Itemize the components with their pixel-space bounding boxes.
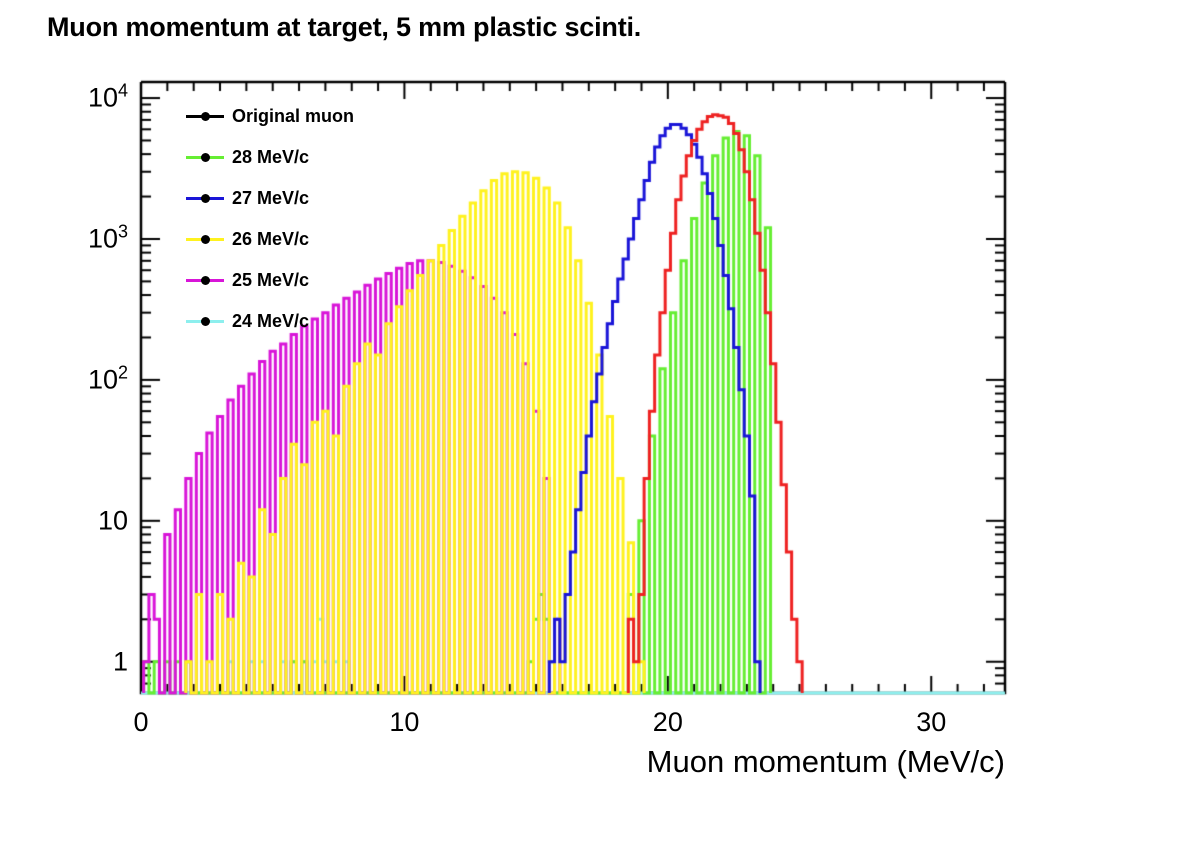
- x-axis-title: Muon momentum (MeV/c): [0, 744, 1005, 780]
- legend-item-label: 28 MeV/c: [232, 147, 309, 168]
- legend-dot-icon: [201, 112, 210, 121]
- legend-item: 27 MeV/c: [186, 178, 366, 219]
- y-axis-tick-label: 1: [113, 646, 128, 677]
- legend-item: 25 MeV/c: [186, 260, 366, 301]
- x-axis-tick-label: 20: [653, 707, 683, 738]
- legend-marker-icon: [186, 274, 224, 288]
- y-axis-tick-label: 104: [88, 83, 128, 114]
- legend-item-label: 26 MeV/c: [232, 229, 309, 250]
- y-axis-tick-label: 103: [88, 223, 128, 254]
- legend-item-label: Original muon: [232, 106, 354, 127]
- x-axis-tick-label: 0: [133, 707, 148, 738]
- legend-dot-icon: [201, 235, 210, 244]
- x-axis-tick-label: 10: [389, 707, 419, 738]
- legend-marker-icon: [186, 192, 224, 206]
- legend-item: Original muon: [186, 96, 366, 137]
- legend-marker-icon: [186, 151, 224, 165]
- legend-dot-icon: [201, 317, 210, 326]
- legend-marker-icon: [186, 233, 224, 247]
- y-axis-tick-label: 10: [98, 505, 128, 536]
- legend-item: 28 MeV/c: [186, 137, 366, 178]
- legend-item: 26 MeV/c: [186, 219, 366, 260]
- x-axis-tick-label: 30: [916, 707, 946, 738]
- legend-item-label: 25 MeV/c: [232, 270, 309, 291]
- legend-item-label: 27 MeV/c: [232, 188, 309, 209]
- legend-marker-icon: [186, 315, 224, 329]
- legend-dot-icon: [201, 276, 210, 285]
- legend-dot-icon: [201, 194, 210, 203]
- legend-item-label: 24 MeV/c: [232, 311, 309, 332]
- histogram-plot-canvas: [0, 0, 1181, 847]
- legend-dot-icon: [201, 153, 210, 162]
- y-axis-tick-label: 102: [88, 364, 128, 395]
- plot-legend: Original muon28 MeV/c27 MeV/c26 MeV/c25 …: [186, 96, 366, 342]
- legend-item: 24 MeV/c: [186, 301, 366, 342]
- legend-marker-icon: [186, 110, 224, 124]
